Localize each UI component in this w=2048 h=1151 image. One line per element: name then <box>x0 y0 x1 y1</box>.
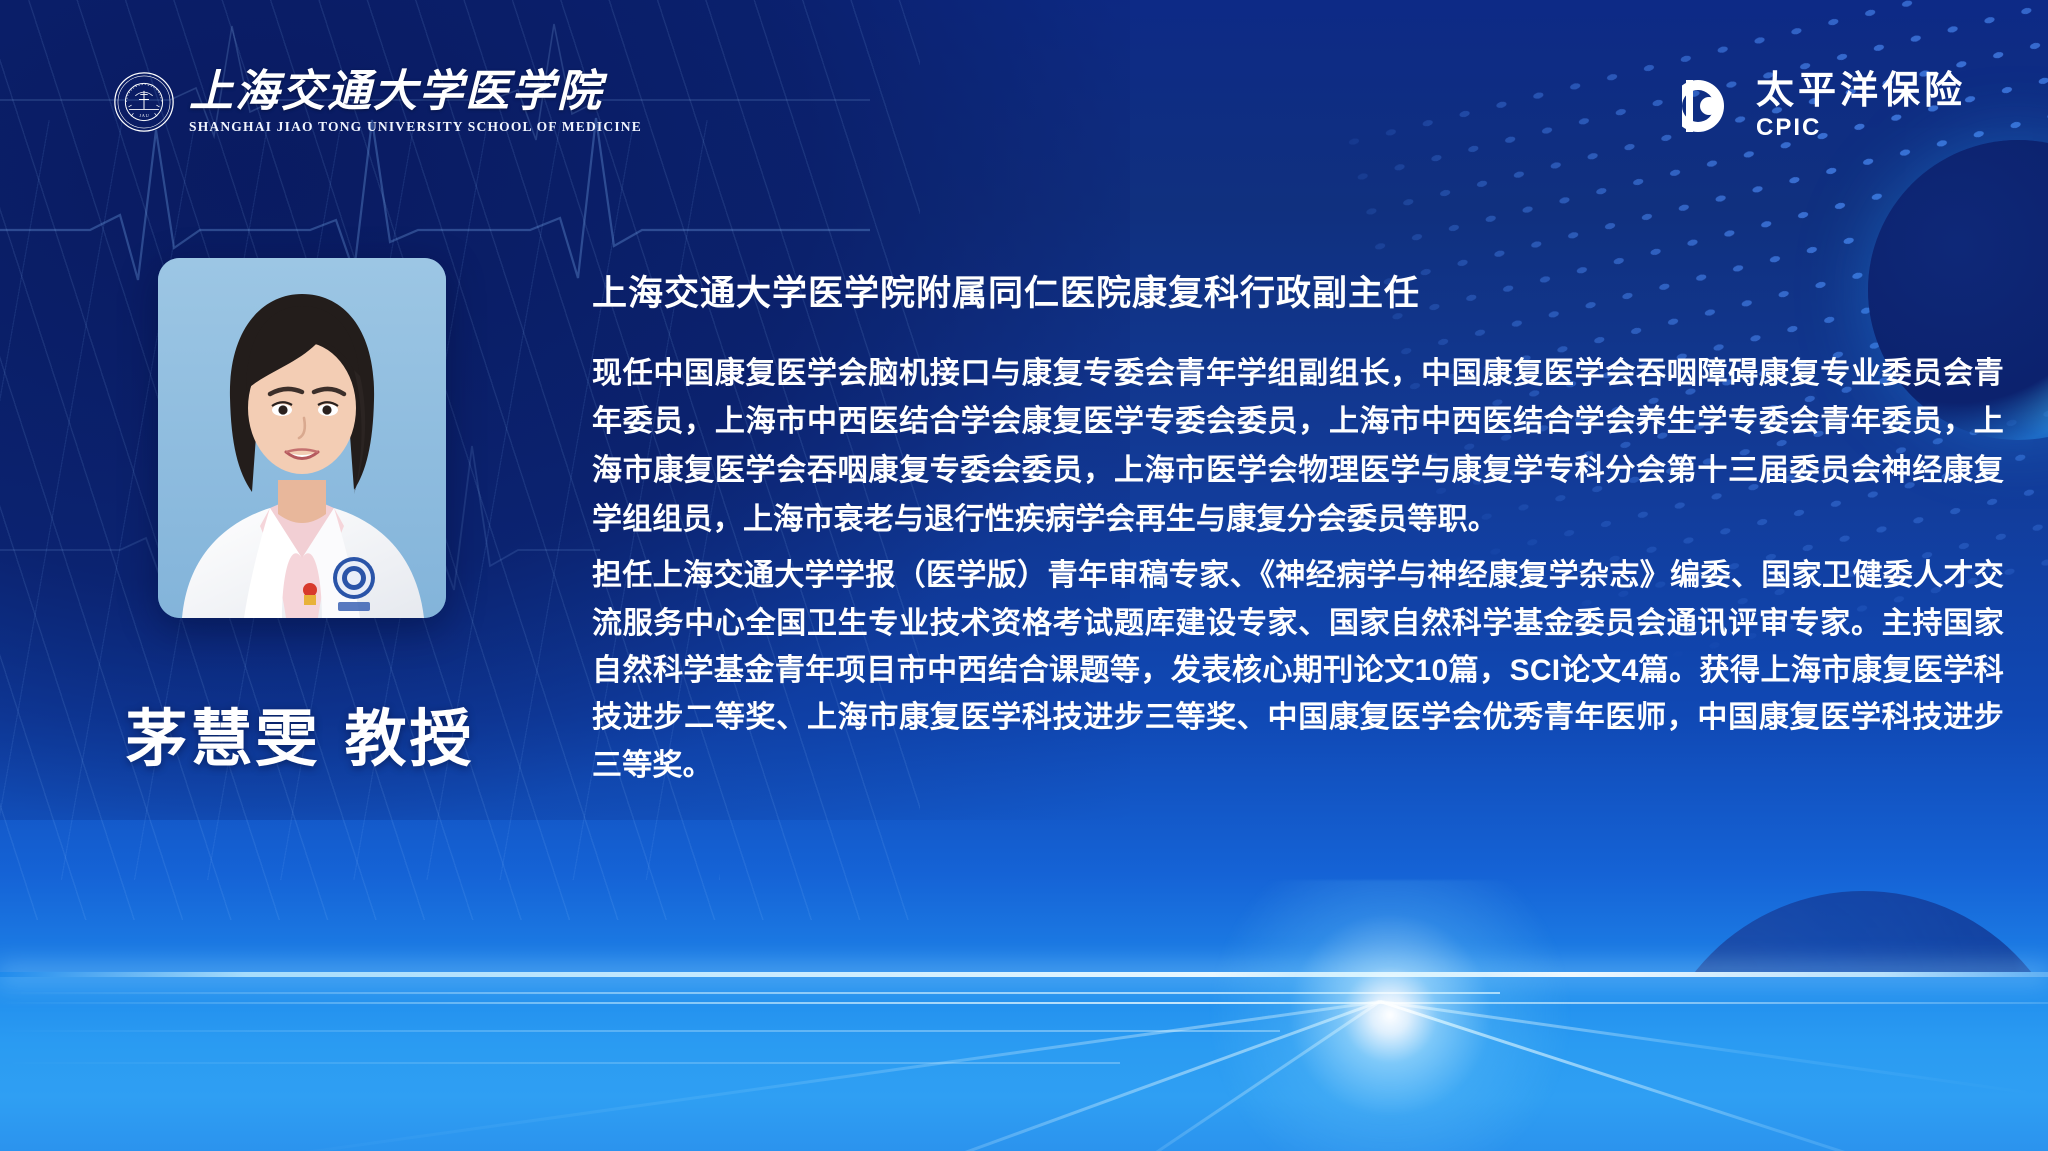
bio-paragraph-1: 现任中国康复医学会脑机接口与康复专委会青年学组副组长，中国康复医学会吞咽障碍康复… <box>592 350 2004 544</box>
presentation-slide: J A U 上海交通大学医学院 SHANGHAI JIAO TONG UNIVE… <box>0 0 2048 1151</box>
background-horizon-line-secondary <box>0 1002 2048 1004</box>
bio-paragraph-2: 担任上海交通大学学报（医学版）青年审稿专家、《神经病学与神经康复学杂志》编委、国… <box>592 552 2004 789</box>
sjtu-seal-icon: J A U <box>113 71 175 133</box>
person-name-block: 茅慧雯教授 <box>0 688 600 778</box>
portrait-photo <box>158 258 446 618</box>
cpic-p-mark-icon <box>1682 76 1738 136</box>
sponsor-name-en: CPIC <box>1756 116 1966 140</box>
sponsor-name-cn: 太平洋保险 <box>1756 72 1966 110</box>
profile-content: 上海交通大学医学院附属同仁医院康复科行政副主任 现任中国康复医学会脑机接口与康复… <box>592 272 2004 797</box>
person-name: 茅慧雯 <box>125 705 320 774</box>
person-role: 教授 <box>345 705 475 774</box>
university-name-cn: 上海交通大学医学院 <box>189 69 642 115</box>
background-light-burst <box>1180 880 1600 1151</box>
background-horizon-line <box>0 972 2048 977</box>
svg-text:J A U: J A U <box>139 113 149 118</box>
university-name-en: SHANGHAI JIAO TONG UNIVERSITY SCHOOL OF … <box>189 119 642 135</box>
university-logo: J A U 上海交通大学医学院 SHANGHAI JIAO TONG UNIVE… <box>113 69 642 135</box>
background-light-beam-2 <box>0 1030 1280 1032</box>
sponsor-logo: 太平洋保险 CPIC <box>1682 72 1966 140</box>
portrait-illustration <box>158 258 446 618</box>
page-title: 上海交通大学医学院附属同仁医院康复科行政副主任 <box>592 272 2004 316</box>
